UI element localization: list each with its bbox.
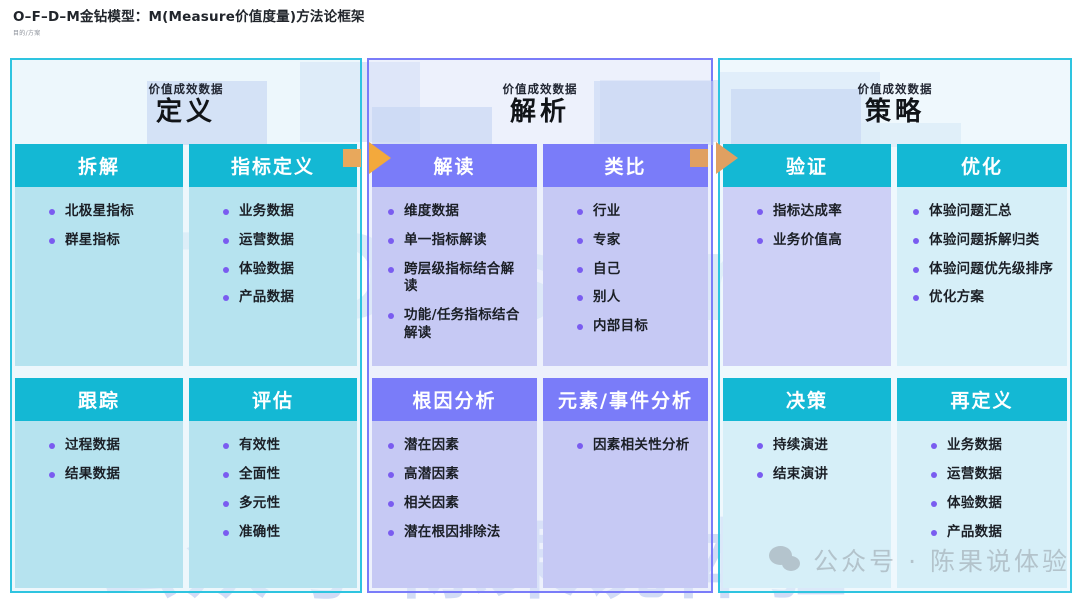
- card-juece-list: 持续演进 结束演讲: [737, 437, 881, 484]
- list-item: 专家: [575, 232, 698, 250]
- list-item: 体验数据: [929, 495, 1057, 513]
- card-genzong[interactable]: 跟踪 过程数据 结果数据: [15, 378, 183, 588]
- card-leibi[interactable]: 类比 行业 专家 自己 别人 内部目标: [543, 144, 708, 366]
- list-item: 潜在因素: [386, 437, 527, 455]
- arrow-right-icon: [716, 142, 738, 174]
- connector-analyze-to-strategy: [690, 142, 738, 174]
- decor-header-shape: [594, 81, 714, 145]
- card-genyinfenxi-list: 潜在因素 高潜因素 相关因素 潜在根因排除法: [386, 437, 527, 541]
- section-define-title: 定义: [156, 98, 216, 127]
- card-chaijie[interactable]: 拆解 北极星指标 群星指标: [15, 144, 183, 366]
- list-item: 自己: [575, 261, 698, 279]
- section-analyze-row2: 根因分析 潜在因素 高潜因素 相关因素 潜在根因排除法 元素/事件分析: [372, 378, 708, 588]
- card-pinggu-title: 评估: [189, 378, 357, 421]
- card-jiedu[interactable]: 解读 维度数据 单一指标解读 跨层级指标结合解读 功能/任务指标结合解读: [372, 144, 537, 366]
- card-genyinfenxi-title: 根因分析: [372, 378, 537, 421]
- card-jiedu-title: 解读: [372, 144, 537, 187]
- corner-watermark-text: 公众号 · 陈果说体验: [813, 542, 1070, 578]
- list-item: 结束演讲: [755, 466, 881, 484]
- list-item: 运营数据: [221, 232, 347, 250]
- card-chaijie-body: 北极星指标 群星指标: [15, 187, 183, 366]
- connector-square-icon: [690, 149, 708, 167]
- card-genzong-list: 过程数据 结果数据: [29, 437, 173, 484]
- list-item: 持续演进: [755, 437, 881, 455]
- card-pinggu-body: 有效性 全面性 多元性 准确性: [189, 421, 357, 588]
- section-define-header: 价值成效数据 定义: [15, 63, 357, 144]
- corner-watermark: 公众号 · 陈果说体验: [769, 542, 1070, 578]
- section-analyze-row1: 解读 维度数据 单一指标解读 跨层级指标结合解读 功能/任务指标结合解读 类比: [372, 144, 708, 366]
- card-youhua[interactable]: 优化 体验问题汇总 体验问题拆解归类 体验问题优先级排序 优化方案: [897, 144, 1067, 366]
- list-item: 过程数据: [47, 437, 173, 455]
- list-item: 全面性: [221, 466, 347, 484]
- sections-container: 价值成效数据 定义 拆解 北极星指标 群星指标 指标定义: [10, 58, 1072, 593]
- list-item: 体验问题汇总: [911, 203, 1057, 221]
- card-zhibiaodingyi-title: 指标定义: [189, 144, 357, 187]
- card-genzong-body: 过程数据 结果数据: [15, 421, 183, 588]
- list-item: 因素相关性分析: [575, 437, 698, 455]
- section-analyze: 价值成效数据 解析 解读 维度数据 单一指标解读 跨层级指标结合解读 功能/任务…: [367, 58, 713, 593]
- slide-canvas: NT Design 公众号·陈果说体验 O–F–D–M金钻模型：M(Measur…: [0, 0, 1080, 604]
- arrow-right-icon: [369, 142, 391, 174]
- card-youhua-title: 优化: [897, 144, 1067, 187]
- card-genzong-title: 跟踪: [15, 378, 183, 421]
- list-item: 跨层级指标结合解读: [386, 261, 527, 297]
- section-strategy: 价值成效数据 策略 验证 指标达成率 业务价值高 优化: [718, 58, 1072, 593]
- card-jiedu-list: 维度数据 单一指标解读 跨层级指标结合解读 功能/任务指标结合解读: [386, 203, 527, 343]
- card-leibi-body: 行业 专家 自己 别人 内部目标: [543, 187, 708, 366]
- card-yanzheng-title: 验证: [723, 144, 891, 187]
- card-yanzheng[interactable]: 验证 指标达成率 业务价值高: [723, 144, 891, 366]
- list-item: 功能/任务指标结合解读: [386, 307, 527, 343]
- section-strategy-header: 价值成效数据 策略: [723, 63, 1067, 144]
- card-zaidingyi-list: 业务数据 运营数据 体验数据 产品数据: [911, 437, 1057, 541]
- card-pinggu[interactable]: 评估 有效性 全面性 多元性 准确性: [189, 378, 357, 588]
- list-item: 优化方案: [911, 289, 1057, 307]
- list-item: 单一指标解读: [386, 232, 527, 250]
- wechat-icon: [769, 546, 803, 574]
- card-zhibiaodingyi-body: 业务数据 运营数据 体验数据 产品数据: [189, 187, 357, 366]
- list-item: 维度数据: [386, 203, 527, 221]
- list-item: 产品数据: [929, 524, 1057, 542]
- connector-square-icon: [343, 149, 361, 167]
- card-juece-title: 决策: [723, 378, 891, 421]
- list-item: 潜在根因排除法: [386, 524, 527, 542]
- list-item: 有效性: [221, 437, 347, 455]
- card-leibi-title: 类比: [543, 144, 708, 187]
- card-yanzheng-list: 指标达成率 业务价值高: [737, 203, 881, 250]
- card-zhibiaodingyi-list: 业务数据 运营数据 体验数据 产品数据: [203, 203, 347, 307]
- section-analyze-title: 解析: [510, 98, 570, 127]
- card-chaijie-list: 北极星指标 群星指标: [29, 203, 173, 250]
- section-strategy-kicker: 价值成效数据: [858, 81, 933, 97]
- section-define-row1: 拆解 北极星指标 群星指标 指标定义 业务数据 运营数据 体: [15, 144, 357, 366]
- section-define: 价值成效数据 定义 拆解 北极星指标 群星指标 指标定义: [10, 58, 362, 593]
- card-pinggu-list: 有效性 全面性 多元性 准确性: [203, 437, 347, 541]
- card-zaidingyi-title: 再定义: [897, 378, 1067, 421]
- list-item: 指标达成率: [755, 203, 881, 221]
- connector-define-to-analyze: [343, 142, 391, 174]
- list-item: 业务数据: [929, 437, 1057, 455]
- list-item: 北极星指标: [47, 203, 173, 221]
- list-item: 高潜因素: [386, 466, 527, 484]
- card-yuansushijianfenxi-body: 因素相关性分析: [543, 421, 708, 588]
- list-item: 内部目标: [575, 318, 698, 336]
- list-item: 业务数据: [221, 203, 347, 221]
- card-zhibiaodingyi[interactable]: 指标定义 业务数据 运营数据 体验数据 产品数据: [189, 144, 357, 366]
- card-yuansushijianfenxi-title: 元素/事件分析: [543, 378, 708, 421]
- section-analyze-kicker: 价值成效数据: [503, 81, 578, 97]
- list-item: 产品数据: [221, 289, 347, 307]
- list-item: 别人: [575, 289, 698, 307]
- list-item: 相关因素: [386, 495, 527, 513]
- list-item: 运营数据: [929, 466, 1057, 484]
- card-jiedu-body: 维度数据 单一指标解读 跨层级指标结合解读 功能/任务指标结合解读: [372, 187, 537, 366]
- card-chaijie-title: 拆解: [15, 144, 183, 187]
- page-title: O–F–D–M金钻模型：M(Measure价值度量)方法论框架: [13, 5, 365, 25]
- page-subtitle: 目的/方案: [13, 28, 365, 37]
- decor-header-shape: [731, 89, 861, 145]
- list-item: 行业: [575, 203, 698, 221]
- card-leibi-list: 行业 专家 自己 别人 内部目标: [557, 203, 698, 336]
- card-youhua-body: 体验问题汇总 体验问题拆解归类 体验问题优先级排序 优化方案: [897, 187, 1067, 366]
- list-item: 体验问题优先级排序: [911, 261, 1057, 279]
- section-strategy-row1: 验证 指标达成率 业务价值高 优化 体验问题汇总 体验问题拆解归类: [723, 144, 1067, 366]
- title-block: O–F–D–M金钻模型：M(Measure价值度量)方法论框架 目的/方案: [13, 5, 365, 37]
- card-youhua-list: 体验问题汇总 体验问题拆解归类 体验问题优先级排序 优化方案: [911, 203, 1057, 307]
- decor-header-shape: [372, 107, 492, 147]
- card-yuansushijianfenxi[interactable]: 元素/事件分析 因素相关性分析: [543, 378, 708, 588]
- card-genyinfenxi-body: 潜在因素 高潜因素 相关因素 潜在根因排除法: [372, 421, 537, 588]
- card-yuansushijianfenxi-list: 因素相关性分析: [557, 437, 698, 455]
- list-item: 体验问题拆解归类: [911, 232, 1057, 250]
- card-yanzheng-body: 指标达成率 业务价值高: [723, 187, 891, 366]
- list-item: 群星指标: [47, 232, 173, 250]
- list-item: 体验数据: [221, 261, 347, 279]
- list-item: 结果数据: [47, 466, 173, 484]
- section-strategy-title: 策略: [865, 98, 925, 127]
- section-analyze-header: 价值成效数据 解析: [372, 63, 708, 144]
- list-item: 准确性: [221, 524, 347, 542]
- section-define-kicker: 价值成效数据: [149, 81, 224, 97]
- card-genyinfenxi[interactable]: 根因分析 潜在因素 高潜因素 相关因素 潜在根因排除法: [372, 378, 537, 588]
- list-item: 业务价值高: [755, 232, 881, 250]
- list-item: 多元性: [221, 495, 347, 513]
- section-define-row2: 跟踪 过程数据 结果数据 评估 有效性 全面性 多元性: [15, 378, 357, 588]
